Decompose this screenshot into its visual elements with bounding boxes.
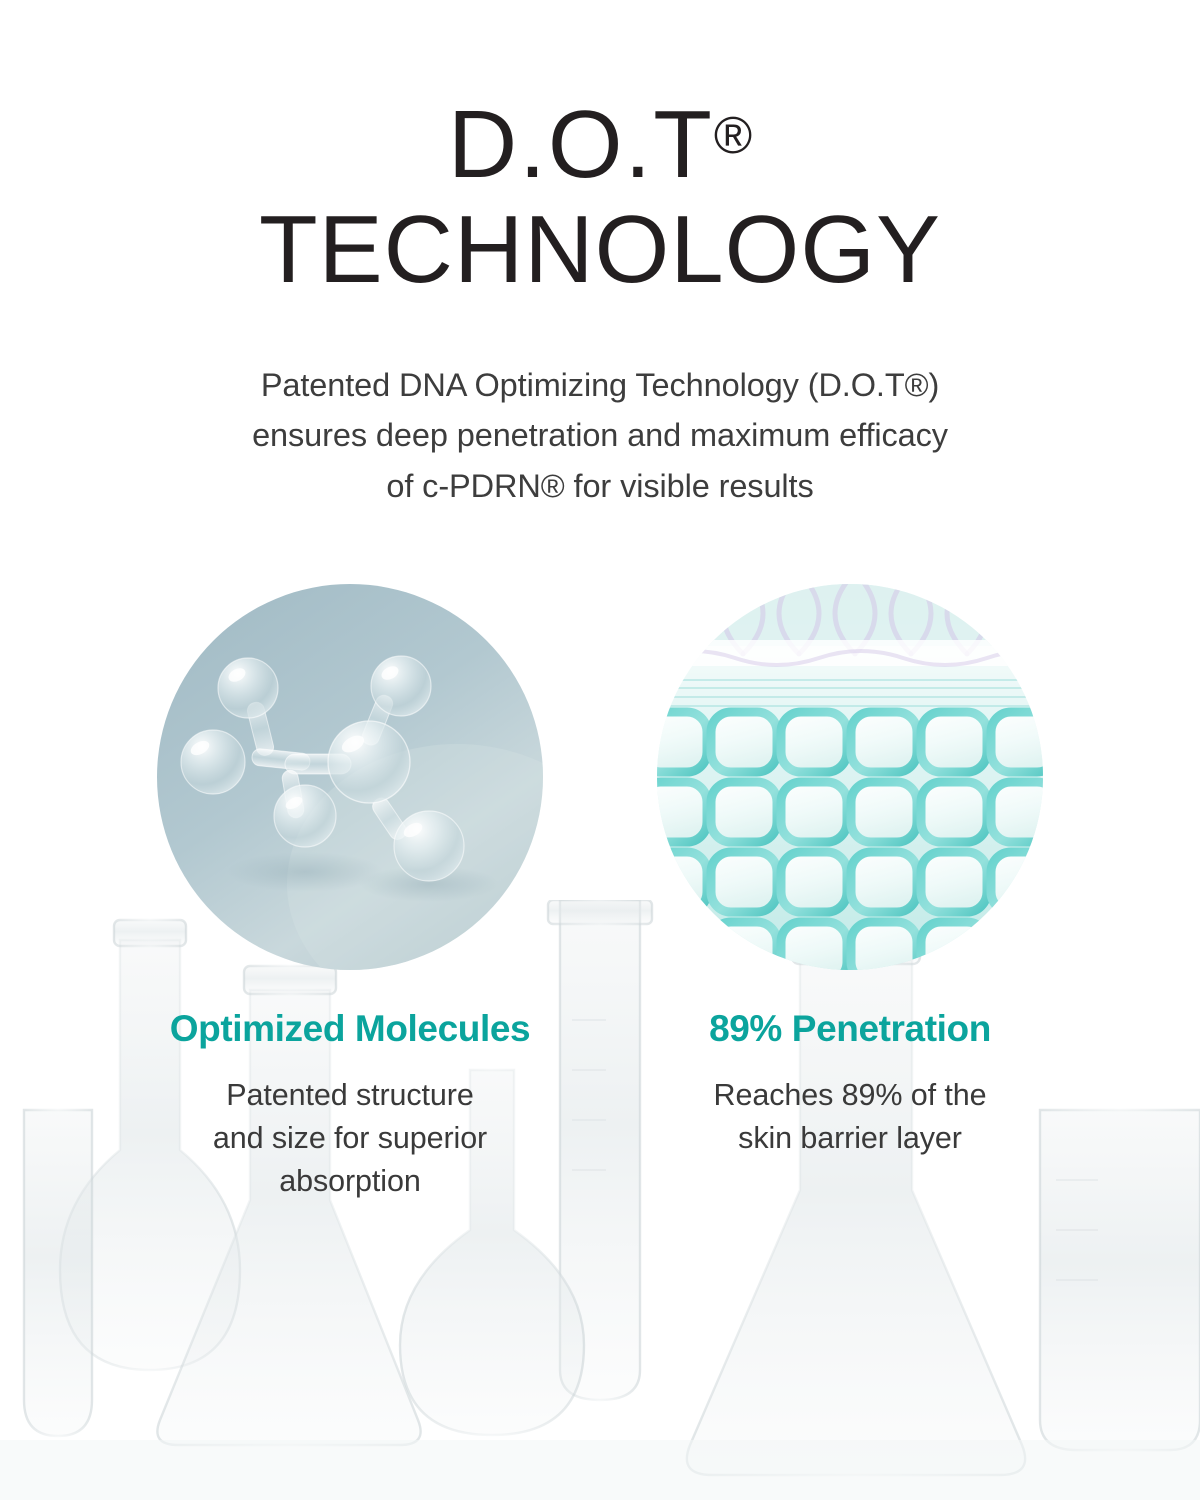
feature-penetration: 89% Penetration Reaches 89% of the skin … <box>600 584 1100 1204</box>
page-header: D.O.T® TECHNOLOGY Patented DNA Optimizin… <box>0 0 1200 512</box>
skin-barrier-lattice <box>657 584 1043 970</box>
feature-list: Optimized Molecules Patented structure a… <box>0 584 1200 1204</box>
desc-line-2: skin barrier layer <box>738 1121 962 1155</box>
feature-title-optimized-molecules: Optimized Molecules <box>170 1008 530 1050</box>
registered-trademark-icon: ® <box>714 107 752 165</box>
subtitle-line-3: of c-PDRN® for visible results <box>386 468 813 504</box>
molecule-3d-render <box>157 584 543 970</box>
subtitle-line-2: ensures deep penetration and maximum eff… <box>252 417 948 453</box>
feature-description-optimized-molecules: Patented structure and size for superior… <box>213 1074 487 1204</box>
desc-line-1: Reaches 89% of the <box>714 1078 987 1112</box>
page-title-text: D.O.T <box>448 91 714 198</box>
page-subtitle: Patented DNA Optimizing Technology (D.O.… <box>0 360 1200 512</box>
subtitle-line-1: Patented DNA Optimizing Technology (D.O.… <box>261 367 939 403</box>
feature-title-penetration: 89% Penetration <box>709 1008 991 1050</box>
page-title-line-1: D.O.T® <box>0 96 1200 194</box>
page-title-line-2: TECHNOLOGY <box>0 198 1200 302</box>
desc-line-2: and size for superior <box>213 1121 487 1155</box>
feature-description-penetration: Reaches 89% of the skin barrier layer <box>714 1074 987 1161</box>
desc-line-1: Patented structure <box>226 1078 473 1112</box>
desc-line-3: absorption <box>279 1164 420 1198</box>
feature-optimized-molecules: Optimized Molecules Patented structure a… <box>100 584 600 1204</box>
